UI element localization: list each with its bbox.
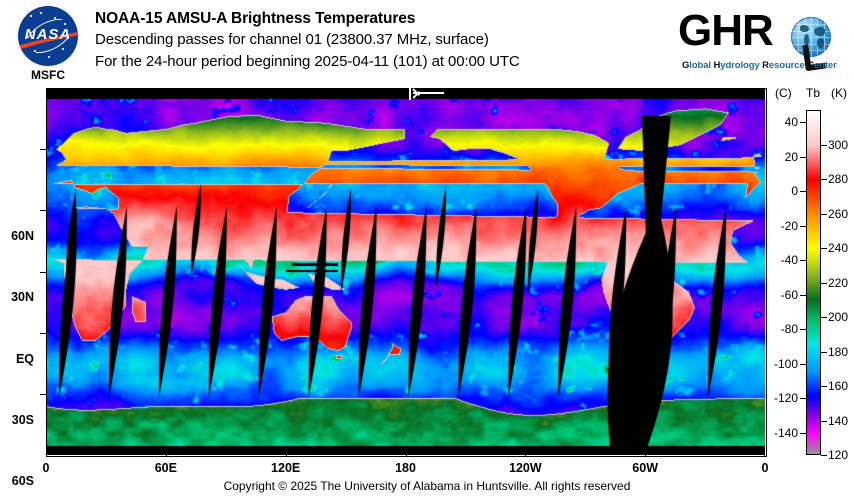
colorbar-kelvin-tick-1: 280 bbox=[828, 172, 848, 186]
colorbar-kelvin-tickmark bbox=[821, 352, 827, 353]
nasa-wordmark: NASA bbox=[16, 26, 80, 43]
nasa-logo: NASA MSFC bbox=[8, 4, 88, 84]
colorbar-kelvin-tickmark bbox=[821, 317, 827, 318]
lon-label-0: 0 bbox=[43, 461, 50, 475]
lat-tick bbox=[40, 272, 46, 273]
lon-label-3: 180 bbox=[395, 461, 416, 475]
colorbar-kelvin-tick-7: 160 bbox=[828, 379, 848, 393]
colorbar-kelvin-tick-0: 300 bbox=[828, 138, 848, 152]
brightness-temperature-map[interactable] bbox=[46, 88, 765, 455]
latitude-axis: 60N30NEQ30S60S bbox=[0, 88, 42, 455]
page-title: NOAA-15 AMSU-A Brightness Temperatures bbox=[95, 8, 665, 29]
colorbar-kelvin-tick-3: 240 bbox=[828, 241, 848, 255]
lon-label-1: 60E bbox=[155, 461, 177, 475]
lat-label-60n: 60N bbox=[11, 229, 34, 243]
colorbar-kelvin-tick-8: 140 bbox=[828, 414, 848, 428]
colorbar-kelvin-tick-4: 220 bbox=[828, 276, 848, 290]
lat-label-30s: 30S bbox=[12, 413, 34, 427]
ghrc-tagline: Global Hydrology Resource Center bbox=[682, 60, 850, 71]
lon-tick bbox=[406, 451, 407, 456]
ghrc-logo: GHR Global Hydrology Resource Center bbox=[676, 6, 852, 80]
colorbar-kelvin-tickmark bbox=[821, 283, 827, 284]
colorbar-kelvin-tick-9: 120 bbox=[828, 448, 848, 462]
lon-tick bbox=[46, 451, 47, 456]
colorbar-celsius-unit: (C) bbox=[775, 86, 792, 100]
page-header: NASA MSFC NOAA-15 AMSU-A Brightness Temp… bbox=[0, 0, 854, 88]
colorbar-kelvin-tickmark bbox=[821, 145, 827, 146]
lon-tick bbox=[166, 451, 167, 456]
lon-label-5: 60W bbox=[632, 461, 658, 475]
lon-label-4: 120W bbox=[509, 461, 542, 475]
lat-tick bbox=[40, 394, 46, 395]
colorbar[interactable] bbox=[806, 110, 821, 455]
copyright-notice: Copyright © 2025 The University of Alaba… bbox=[0, 479, 854, 493]
page-subtitle: Descending passes for channel 01 (23800.… bbox=[95, 29, 665, 51]
colorbar-gradient bbox=[807, 111, 820, 454]
colorbar-kelvin-tickmark bbox=[821, 248, 827, 249]
colorbar-kelvin-tick-6: 180 bbox=[828, 345, 848, 359]
lon-tick bbox=[764, 451, 765, 456]
colorbar-variable-label: Tb bbox=[806, 86, 820, 100]
lon-label-6: 0 bbox=[762, 461, 769, 475]
colorbar-kelvin-tickmark bbox=[821, 386, 827, 387]
colorbar-kelvin-tickmark bbox=[821, 421, 827, 422]
lon-label-2: 120E bbox=[271, 461, 300, 475]
title-block: NOAA-15 AMSU-A Brightness Temperatures D… bbox=[95, 8, 665, 73]
lat-tick bbox=[40, 210, 46, 211]
nasa-center-label: MSFC bbox=[8, 68, 88, 82]
lat-tick bbox=[40, 149, 46, 150]
ghrc-wordmark: GHR bbox=[678, 8, 773, 54]
lat-label-eq: EQ bbox=[16, 352, 34, 366]
colorbar-kelvin-tick-2: 260 bbox=[828, 207, 848, 221]
longitude-axis: 060E120E180120W60W0 bbox=[46, 456, 765, 478]
lat-tick bbox=[40, 333, 46, 334]
lon-tick bbox=[645, 451, 646, 456]
colorbar-kelvin-tickmark bbox=[821, 214, 827, 215]
lon-tick bbox=[525, 451, 526, 456]
colorbar-kelvin-tickmark bbox=[821, 455, 827, 456]
lon-tick bbox=[286, 451, 287, 456]
colorbar-kelvin-tickmark bbox=[821, 179, 827, 180]
lat-label-30n: 30N bbox=[11, 290, 34, 304]
colorbar-kelvin-unit: (K) bbox=[831, 86, 847, 100]
page-period-line: For the 24-hour period beginning 2025-04… bbox=[95, 51, 665, 73]
colorbar-kelvin-tick-5: 200 bbox=[828, 310, 848, 324]
cursor-pointer-icon bbox=[409, 86, 445, 100]
